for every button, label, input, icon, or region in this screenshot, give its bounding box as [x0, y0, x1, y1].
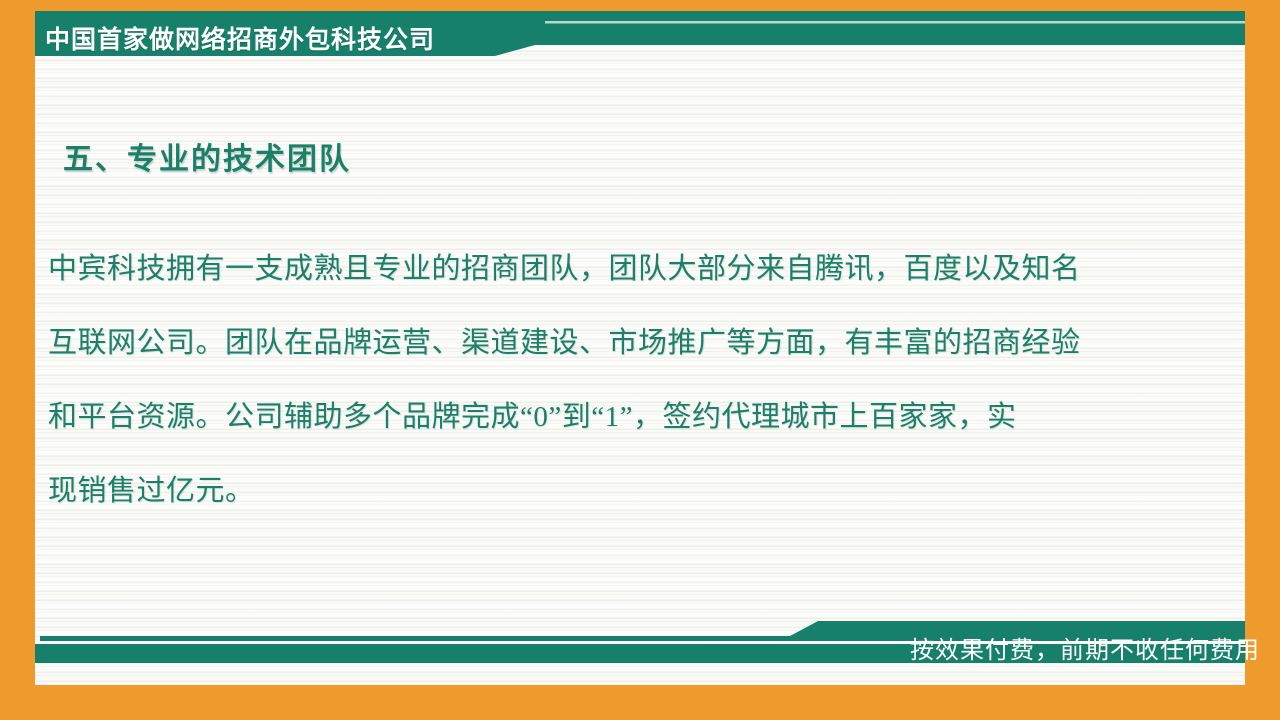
header-title: 中国首家做网络招商外包科技公司	[45, 20, 435, 56]
slide-canvas: 中国首家做网络招商外包科技公司 五、专业的技术团队 中宾科技拥有一支成熟且专业的…	[0, 0, 1280, 720]
footer-accent-line	[700, 642, 780, 644]
footer-tagline: 按效果付费，前期不收任何费用	[910, 630, 1260, 665]
header-right-strip	[535, 11, 1245, 45]
header-accent-line	[545, 21, 1245, 24]
slide-content-sheet	[35, 22, 1245, 685]
